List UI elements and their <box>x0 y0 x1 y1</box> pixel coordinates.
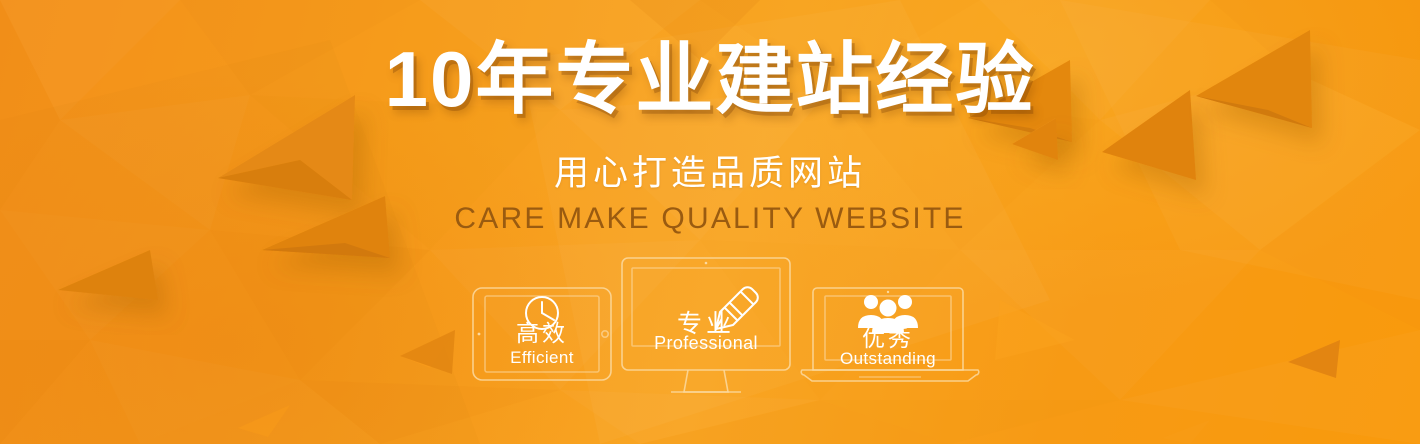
feature-label-cn-efficient: 高效 <box>473 320 611 346</box>
page-title: 10年专业建站经验 <box>0 36 1420 122</box>
promo-banner: 10年专业建站经验 用心打造品质网站 CARE MAKE QUALITY WEB… <box>0 0 1420 444</box>
feature-label-en-efficient: Efficient <box>473 348 611 368</box>
subtitle-chinese: 用心打造品质网站 <box>0 152 1420 196</box>
subtitle-english: CARE MAKE QUALITY WEBSITE <box>0 200 1420 238</box>
feature-label-cn-outstanding: 优秀 <box>800 325 976 351</box>
feature-label-en-professional: Professional <box>622 333 790 353</box>
device-illustration-group: 高效 Efficient 专业 Professional 优秀 Outstand… <box>455 250 995 410</box>
feature-label-en-outstanding: Outstanding <box>800 349 976 369</box>
